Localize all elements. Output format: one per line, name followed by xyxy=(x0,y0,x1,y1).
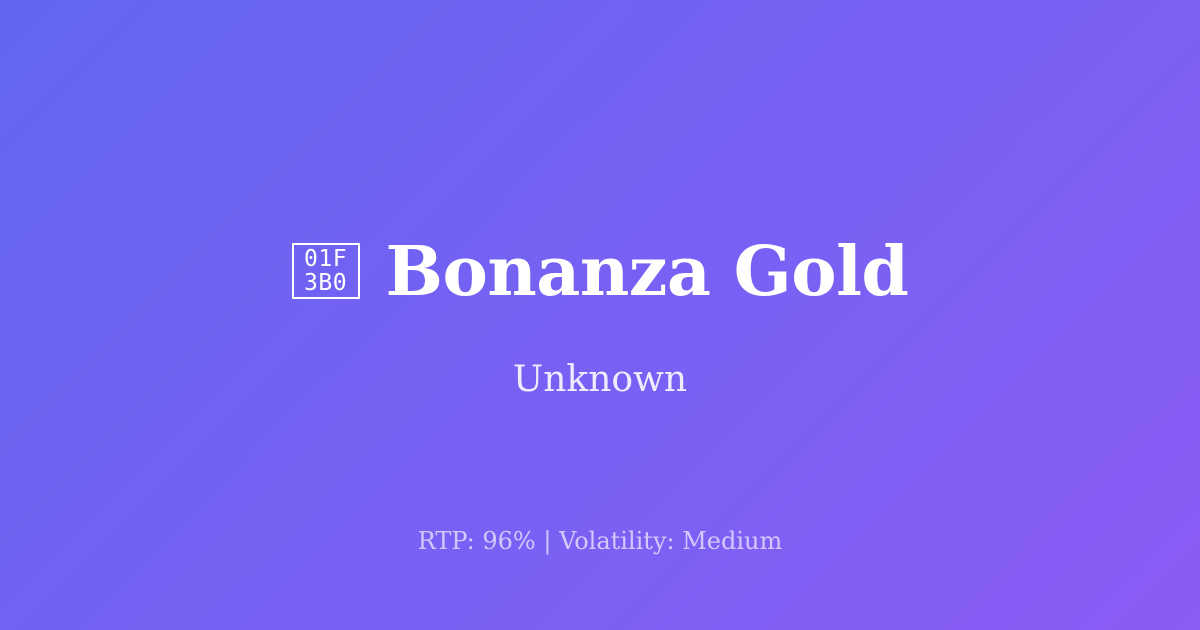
tofu-codepoint-bottom: 3B0 xyxy=(304,271,347,295)
provider-label: Unknown xyxy=(0,362,1200,398)
page-title: Bonanza Gold xyxy=(386,238,909,306)
tofu-codepoint-top: 01F xyxy=(304,247,347,271)
slot-machine-icon: 01F 3B0 xyxy=(292,243,360,299)
og-preview-card: 01F 3B0 Bonanza Gold Unknown RTP: 96% | … xyxy=(0,0,1200,630)
title-row: 01F 3B0 Bonanza Gold xyxy=(0,224,1200,320)
game-stats-line: RTP: 96% | Volatility: Medium xyxy=(0,529,1200,553)
